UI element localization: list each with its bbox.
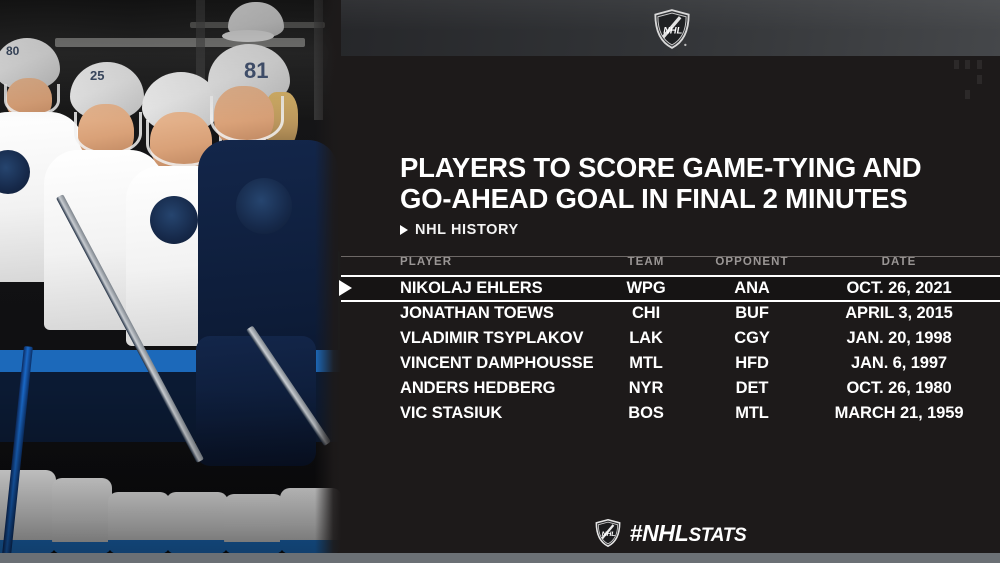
cell-opponent: DET [692,376,812,401]
footer-hashtag-main: #NHL [630,520,689,546]
subtitle: NHL HISTORY [415,222,519,238]
cell-player: VINCENT DAMPHOUSSE [400,351,593,376]
cell-opponent: BUF [692,301,812,326]
table-row[interactable]: VLADIMIR TSYPLAKOV LAK CGY JAN. 20, 1998 [341,326,1000,351]
column-header-date: DATE [809,256,989,268]
table-row[interactable]: NIKOLAJ EHLERS WPG ANA OCT. 26, 2021 [341,276,1000,301]
column-header-player: PLAYER [400,256,452,268]
cell-player: NIKOLAJ EHLERS [400,276,543,301]
cell-date: APRIL 3, 2015 [809,301,989,326]
cell-date: JAN. 20, 1998 [809,326,989,351]
corner-dot-decoration [954,60,988,102]
cell-player: VLADIMIR TSYPLAKOV [400,326,583,351]
cell-opponent: CGY [692,326,812,351]
stats-table: PLAYER TEAM OPPONENT DATE NIKOLAJ EHLERS… [341,256,1000,273]
cell-opponent: HFD [692,351,812,376]
cell-date: OCT. 26, 1980 [809,376,989,401]
table-row[interactable]: ANDERS HEDBERG NYR DET OCT. 26, 1980 [341,376,1000,401]
row-marker-arrow-icon [339,280,352,296]
cell-team: WPG [591,276,701,301]
table-row[interactable]: VIC STASIUK BOS MTL MARCH 21, 1959 [341,401,1000,426]
cell-team: NYR [591,376,701,401]
table-body: NIKOLAJ EHLERS WPG ANA OCT. 26, 2021 JON… [341,276,1000,426]
content-panel: NHL PLAYERS TO SCORE GAME-TYING AND GO-A… [341,0,1000,553]
footer-hashtag-suffix: STATS [688,525,746,546]
svg-text:NHL: NHL [601,531,615,538]
cell-team: MTL [591,351,701,376]
cell-team: LAK [591,326,701,351]
cell-player: VIC STASIUK [400,401,502,426]
triangle-right-icon [400,225,408,235]
cell-player: ANDERS HEDBERG [400,376,555,401]
nhl-stats-graphic: 80 25 81 [0,0,1000,563]
page-title: PLAYERS TO SCORE GAME-TYING AND GO-AHEAD… [400,152,988,214]
table-row[interactable]: JONATHAN TOEWS CHI BUF APRIL 3, 2015 [341,301,1000,326]
cell-opponent: ANA [692,276,812,301]
cell-date: MARCH 21, 1959 [809,401,989,426]
svg-text:NHL: NHL [663,25,682,35]
nhl-shield-logo-header: NHL [653,9,691,49]
cell-date: OCT. 26, 2021 [809,276,989,301]
title-line-1: PLAYERS TO SCORE GAME-TYING AND [400,152,988,183]
photo-shading [0,0,341,553]
title-line-2: GO-AHEAD GOAL IN FINAL 2 MINUTES [400,183,988,214]
cell-opponent: MTL [692,401,812,426]
table-row[interactable]: VINCENT DAMPHOUSSE MTL HFD JAN. 6, 1997 [341,351,1000,376]
cell-team: CHI [591,301,701,326]
column-header-opponent: OPPONENT [692,256,812,268]
cell-date: JAN. 6, 1997 [809,351,989,376]
nhl-shield-logo-footer: NHL [595,519,621,547]
cell-team: BOS [591,401,701,426]
column-header-team: TEAM [591,256,701,268]
celebration-photo: 80 25 81 [0,0,341,553]
table-header-row: PLAYER TEAM OPPONENT DATE [341,256,1000,273]
photo-right-fade [315,0,341,553]
footer-hashtag: #NHLSTATS [630,520,747,547]
cell-player: JONATHAN TOEWS [400,301,554,326]
footer-branding: NHL #NHLSTATS [341,513,1000,553]
header-divider [341,256,1000,257]
subtitle-group: NHL HISTORY [400,222,519,238]
bottom-bar [0,553,1000,563]
